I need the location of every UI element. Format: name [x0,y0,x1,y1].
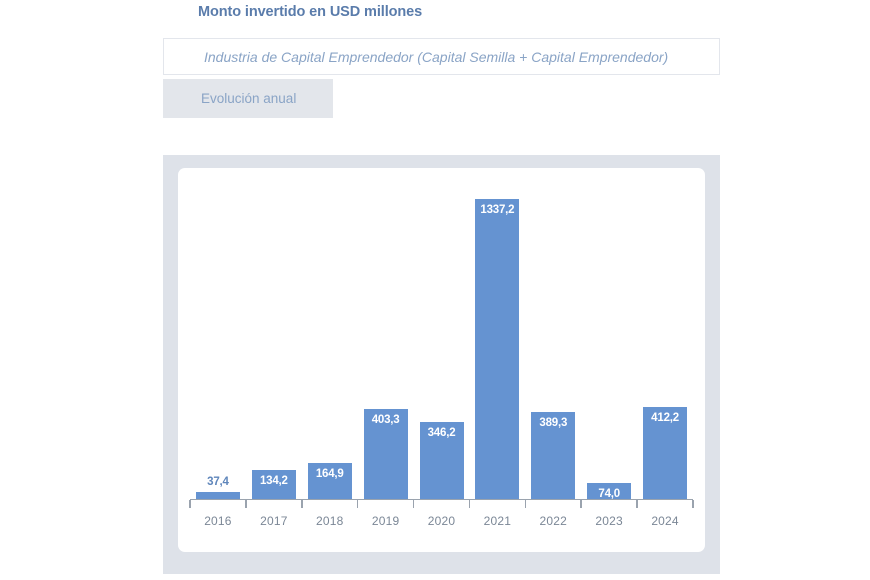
x-axis-tick [636,500,638,508]
bar-slot: 403,3 [358,178,414,500]
bar-2021[interactable]: 1337,2 [475,199,519,500]
x-tick-label-2019: 2019 [358,514,414,534]
tab-evolucion-anual-label: Evolución anual [163,91,296,106]
bar-value-2020: 346,2 [428,427,456,439]
x-axis-tick [580,500,582,508]
x-axis-tick [189,500,191,508]
x-tick-label-2021: 2021 [469,514,525,534]
x-axis-tick [469,500,471,508]
bar-value-2021: 1337,2 [480,204,514,216]
bar-value-2018: 164,9 [316,468,344,480]
bar-slot: 346,2 [414,178,470,500]
bar-2022[interactable]: 389,3 [531,412,575,500]
bar-slot: 37,4 [190,178,246,500]
dataset-selector[interactable]: Industria de Capital Emprendedor (Capita… [163,38,720,75]
x-tick-label-2016: 2016 [190,514,246,534]
bar-slot: 164,9 [302,178,358,500]
x-tick-label-2024: 2024 [637,514,693,534]
bar-value-2024: 412,2 [651,412,679,424]
x-tick-label-2023: 2023 [581,514,637,534]
bar-value-2022: 389,3 [539,417,567,429]
bar-value-2017: 134,2 [260,475,288,487]
dataset-selector-value: Industria de Capital Emprendedor (Capita… [164,49,668,65]
chart-canvas: 37,4134,2164,9403,3346,21337,2389,374,04… [178,168,705,552]
bar-series: 37,4134,2164,9403,3346,21337,2389,374,04… [190,178,693,500]
bar-2023[interactable]: 74,0 [587,483,631,500]
chart-panel: 37,4134,2164,9403,3346,21337,2389,374,04… [163,155,720,574]
plot-area: 37,4134,2164,9403,3346,21337,2389,374,04… [190,178,693,500]
bar-slot: 74,0 [581,178,637,500]
x-axis-tick [245,500,247,508]
x-axis-tick [413,500,415,508]
bar-2017[interactable]: 134,2 [252,470,296,500]
bar-slot: 389,3 [525,178,581,500]
x-tick-label-2017: 2017 [246,514,302,534]
bar-value-2016: 37,4 [207,476,229,488]
x-tick-label-2020: 2020 [414,514,470,534]
bar-2020[interactable]: 346,2 [420,422,464,500]
x-tick-label-2022: 2022 [525,514,581,534]
bar-2024[interactable]: 412,2 [643,407,687,500]
x-axis-tick [692,500,694,508]
bar-slot: 1337,2 [469,178,525,500]
bar-value-2019: 403,3 [372,414,400,426]
tab-evolucion-anual[interactable]: Evolución anual [163,79,333,118]
x-axis-tick [525,500,527,508]
x-axis-labels: 201620172018201920202021202220232024 [190,514,693,534]
page-title: Monto invertido en USD millones [198,4,422,20]
bar-2019[interactable]: 403,3 [364,409,408,500]
x-tick-label-2018: 2018 [302,514,358,534]
bar-slot: 412,2 [637,178,693,500]
x-axis-ticks [190,500,693,508]
x-axis-tick [357,500,359,508]
bar-2018[interactable]: 164,9 [308,463,352,500]
x-axis-tick [301,500,303,508]
bar-slot: 134,2 [246,178,302,500]
tab-strip: Evolución anual [163,79,720,118]
